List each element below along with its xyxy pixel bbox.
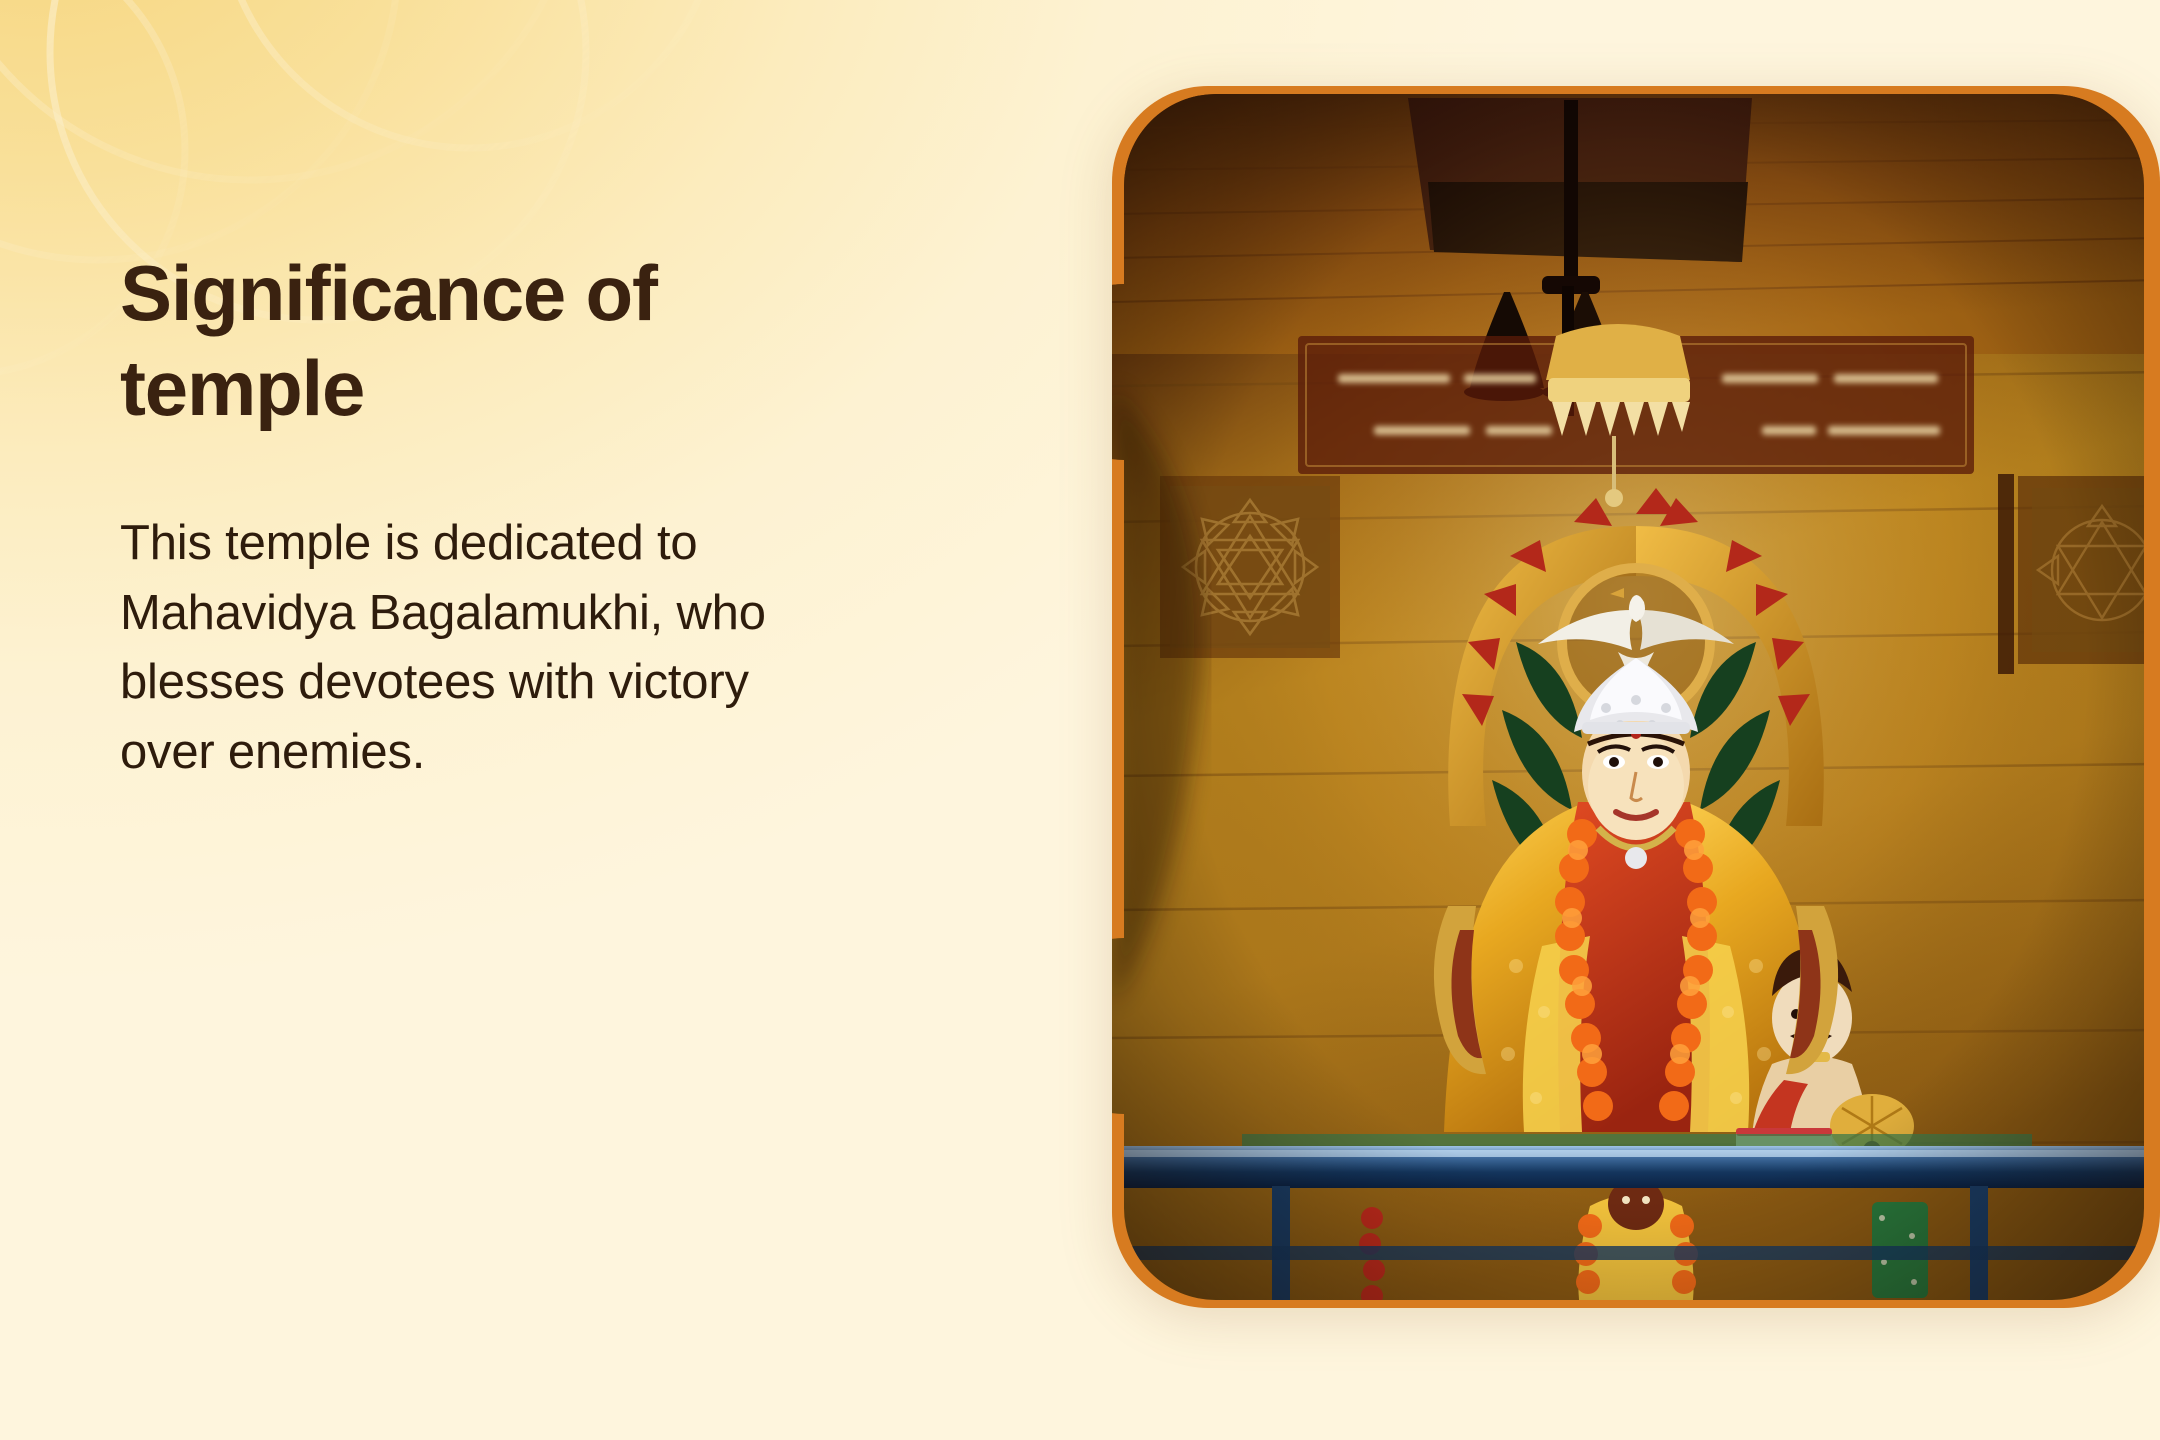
body-paragraph: This temple is dedicated to Mahavidya Ba… <box>120 509 780 787</box>
temple-photograph <box>1112 86 2160 1308</box>
temple-photo-card[interactable] <box>1112 86 2160 1308</box>
page-title: Significance of temple <box>120 246 760 436</box>
text-column: Significance of temple This temple is de… <box>120 246 820 788</box>
scalloped-photo-frame <box>1112 86 2160 1308</box>
